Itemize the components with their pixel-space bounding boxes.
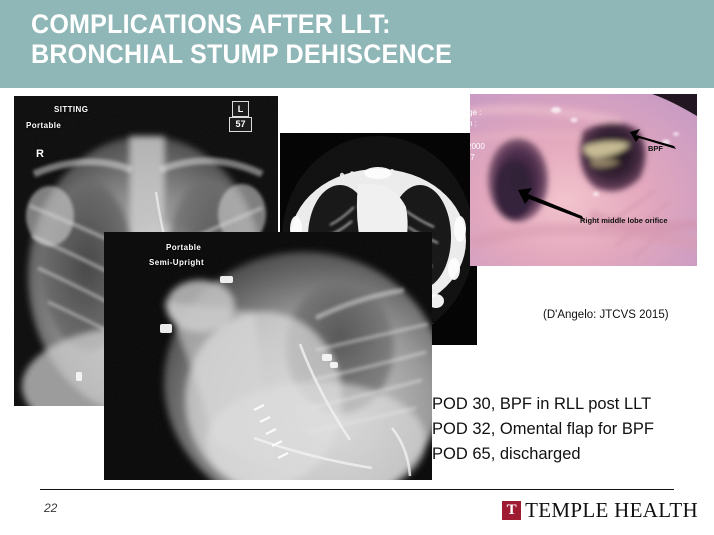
chest-xray-semi-upright: Portable Semi-Upright [104,232,432,480]
xray1-exposure-number: 57 [229,117,252,132]
footer-divider [40,489,674,490]
bronch-osd-line-3: 2000 [470,142,485,152]
page-title: COMPLICATIONS AFTER LLT: BRONCHIAL STUMP… [31,9,645,69]
citation: (D'Angelo: JTCVS 2015) [543,309,669,321]
bronch-osd-line-4: :7 [470,153,475,163]
clinical-course-text: POD 30, BPF in RLL post LLT POD 32, Omen… [432,392,654,467]
xray1-position-label: SITTING [54,105,88,114]
bpf-annotation-label: BPF [648,144,663,153]
bronchoscopy-photo: ge : h : 2000 :7 BPF Right middle lobe o… [470,94,697,266]
rml-orifice-annotation-label: Right middle lobe orifice [580,216,668,225]
bronch-osd-line-1: ge : [470,108,481,118]
xray2-position-label: Semi-Upright [149,258,204,267]
xray1-left-marker: L [232,101,249,117]
temple-health-wordmark: TEMPLE HEALTH [525,498,698,523]
xray2-technique-label: Portable [166,243,201,252]
title-bar: COMPLICATIONS AFTER LLT: BRONCHIAL STUMP… [0,0,714,88]
page-number: 22 [44,501,57,515]
xray1-technique-label: Portable [26,121,61,130]
bronchoscopy-render [470,94,697,266]
chest-xray-semi-upright-render [104,232,432,480]
temple-health-logo: TEMPLE HEALTH [502,498,698,523]
xray1-side-marker: R [36,148,44,160]
temple-t-icon [502,501,521,520]
bronch-osd-line-2: h : [470,119,477,129]
